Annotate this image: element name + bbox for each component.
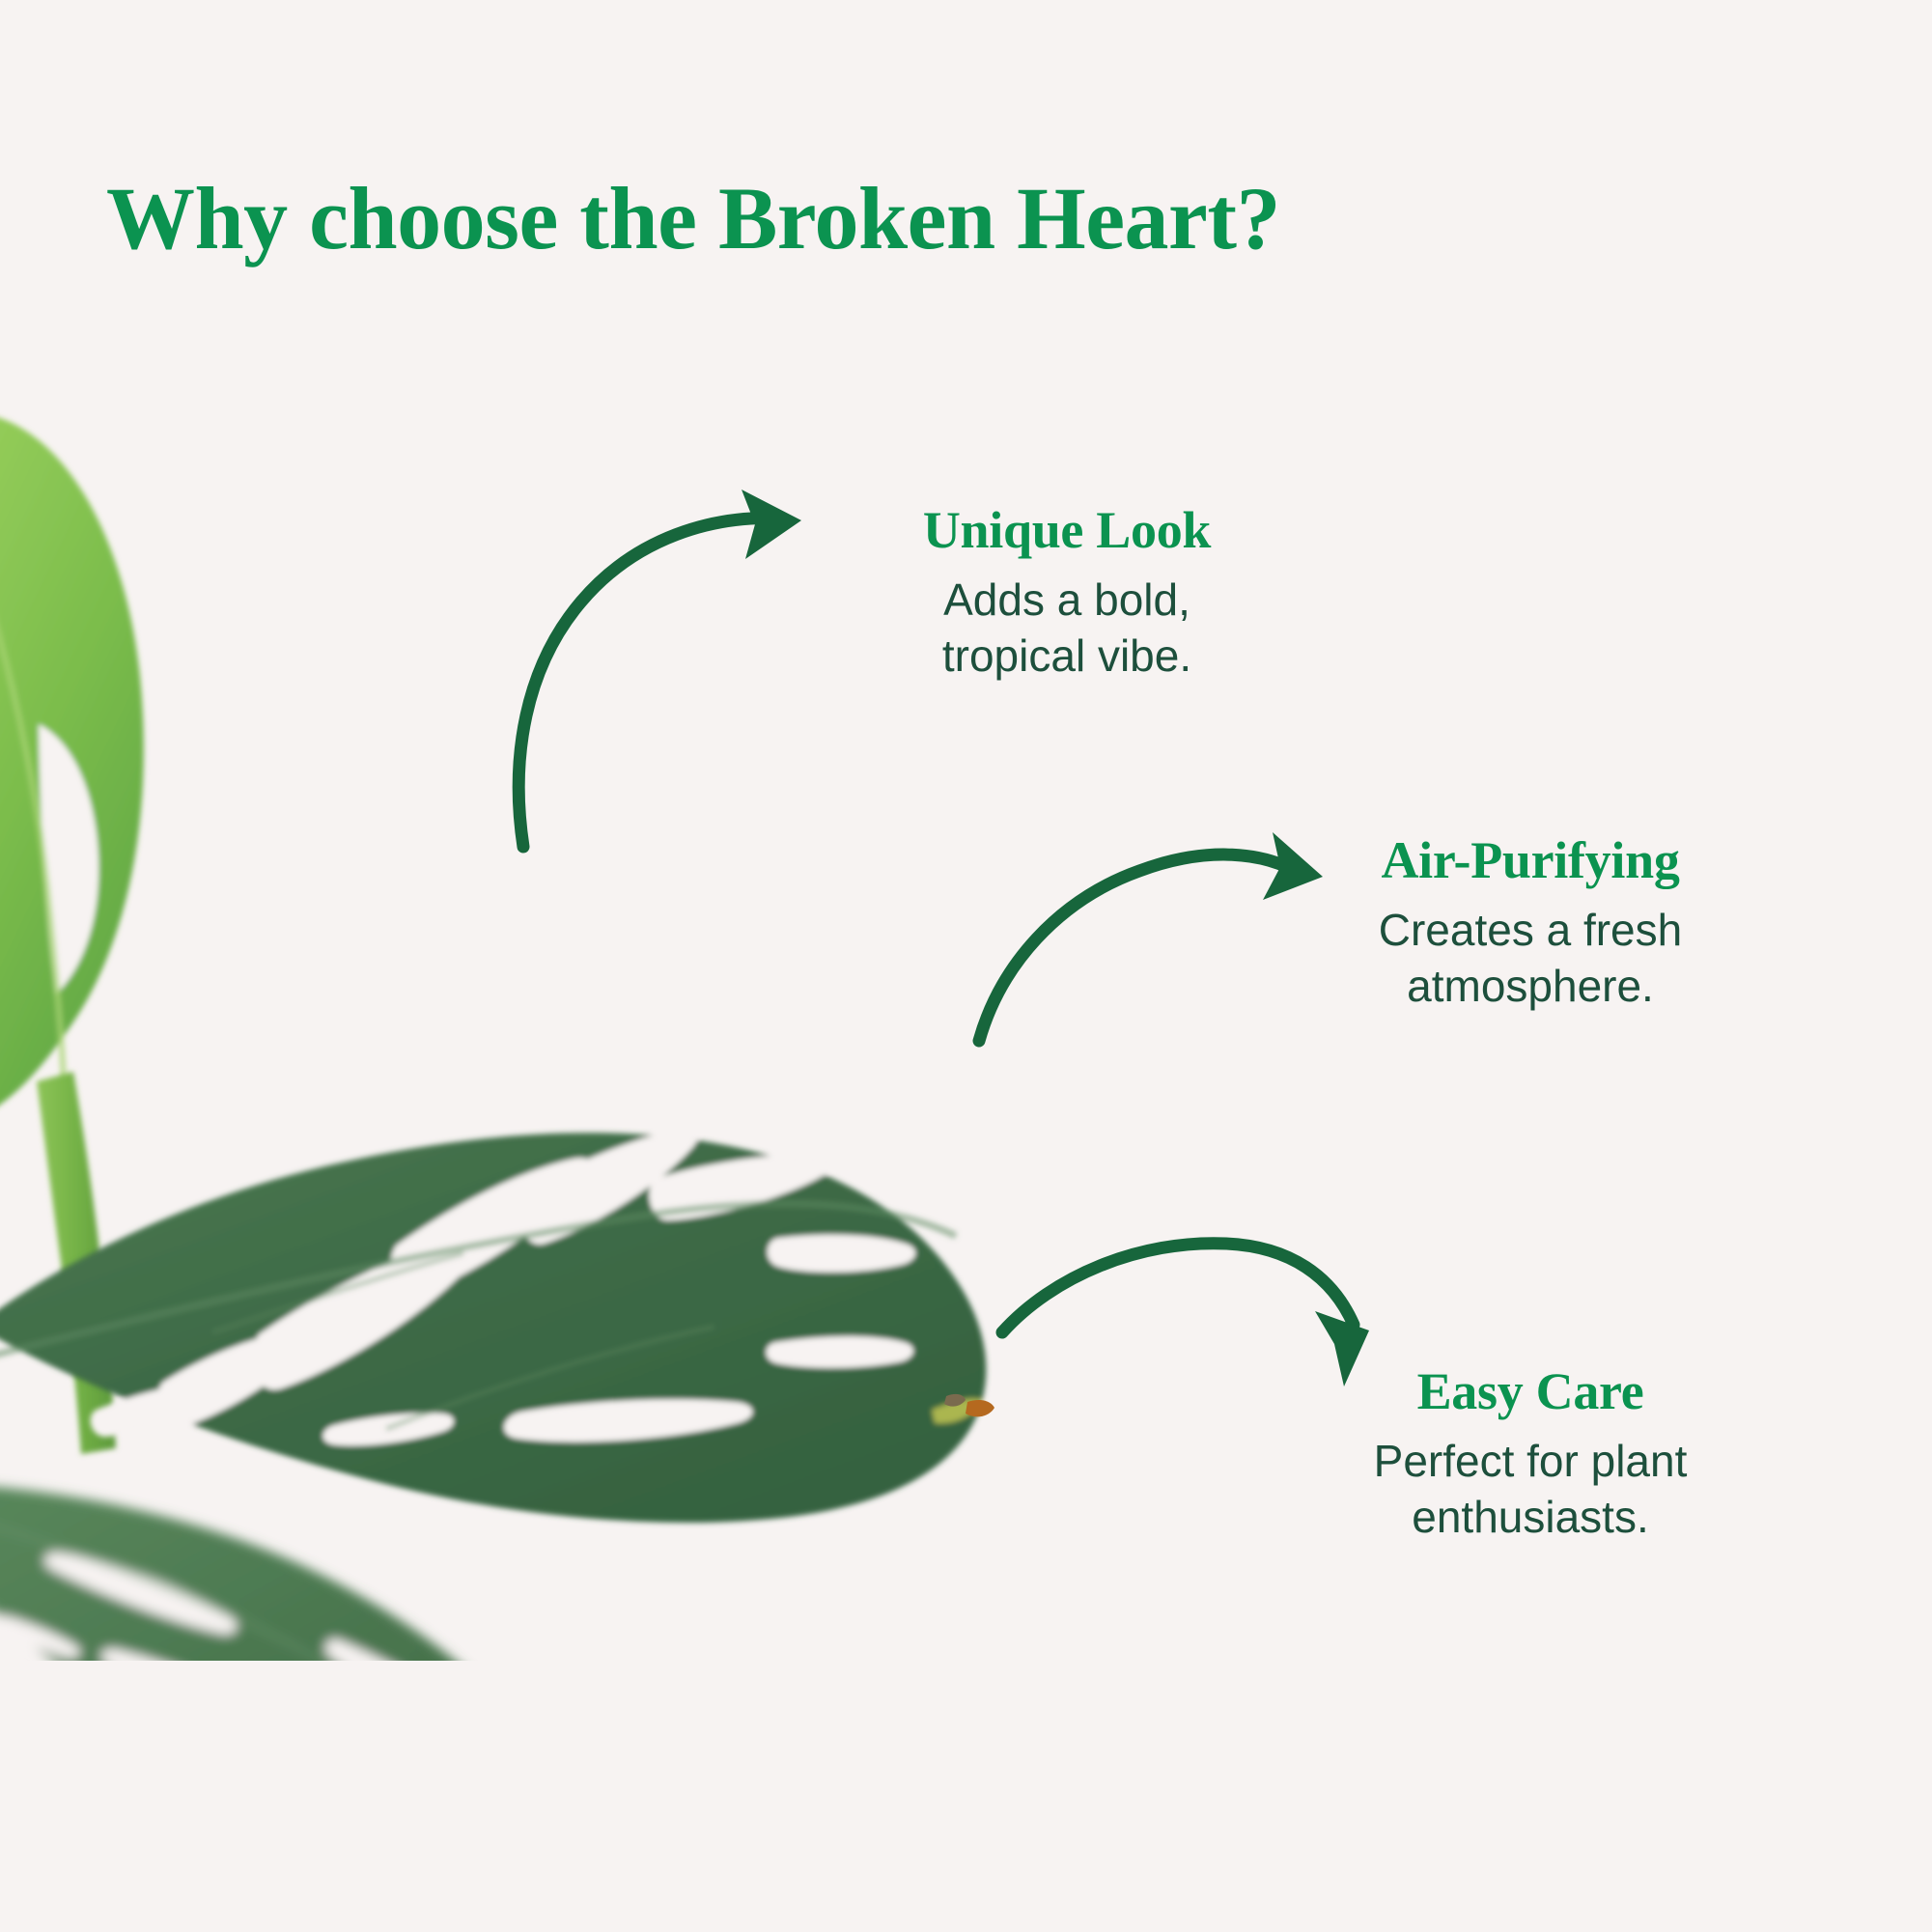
feature-easy-care: Easy Care Perfect for plant enthusiasts. <box>1279 1363 1781 1546</box>
leaf-tip-detail <box>944 1394 994 1416</box>
feature-body-line: tropical vibe. <box>835 629 1299 685</box>
feature-heading: Air-Purifying <box>1279 832 1781 889</box>
feature-body-line: Creates a fresh <box>1279 903 1781 959</box>
feature-body-line: Adds a bold, <box>835 573 1299 629</box>
page-title: Why choose the Broken Heart? <box>106 172 1748 266</box>
feature-body: Creates a fresh atmosphere. <box>1279 903 1781 1015</box>
feature-heading: Unique Look <box>835 502 1299 559</box>
feature-body: Adds a bold, tropical vibe. <box>835 573 1299 685</box>
feature-air-purifying: Air-Purifying Creates a fresh atmosphere… <box>1279 832 1781 1015</box>
curved-arrow-up-right-icon <box>492 488 879 854</box>
promo-graphic-canvas: Why choose the Broken Heart? Unique Look… <box>0 0 1932 1932</box>
feature-body-line: Perfect for plant <box>1279 1434 1781 1490</box>
feature-body-line: atmosphere. <box>1279 959 1781 1015</box>
feature-heading: Easy Care <box>1279 1363 1781 1420</box>
leaf-stem <box>37 1072 116 1454</box>
curved-arrow-up-right-icon <box>966 811 1332 1052</box>
feature-body-line: enthusiasts. <box>1279 1490 1781 1546</box>
small-light-leaf <box>0 415 144 1120</box>
feature-unique-look: Unique Look Adds a bold, tropical vibe. <box>835 502 1299 685</box>
lower-monstera-leaf <box>0 1483 556 1661</box>
feature-body: Perfect for plant enthusiasts. <box>1279 1434 1781 1546</box>
large-monstera-leaf <box>0 1130 986 1524</box>
